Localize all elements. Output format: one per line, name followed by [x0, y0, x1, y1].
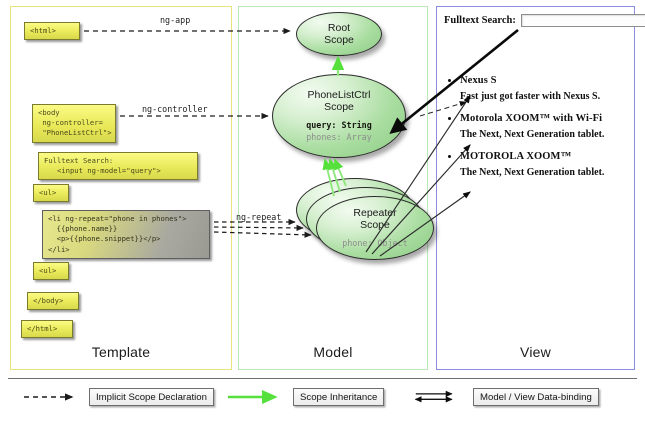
repeater-scope-title: RepeaterScope	[353, 207, 396, 231]
phone-name: Nexus S	[460, 75, 628, 86]
column-label-model: Model	[238, 344, 428, 360]
scope-property-query: query: String	[306, 120, 372, 131]
template-box-ul-open: <ul>	[33, 184, 69, 202]
template-box-li-ng-repeat: <li ng-repeat="phone in phones"> {{phone…	[42, 210, 210, 259]
list-item: Nexus S Fast just got faster with Nexus …	[444, 75, 628, 102]
phone-snippet: The Next, Next Generation tablet.	[460, 167, 628, 178]
template-box-body-close: </body>	[27, 292, 79, 310]
phone-name: MOTOROLA XOOM™	[460, 151, 628, 162]
list-item: Motorola XOOM™ with Wi-Fi The Next, Next…	[444, 113, 628, 140]
phone-snippet: The Next, Next Generation tablet.	[460, 129, 628, 140]
legend-label-model-view-data-binding: Model / View Data-binding	[473, 388, 599, 406]
legend-label-implicit-scope-declaration: Implicit Scope Declaration	[89, 388, 214, 406]
template-box-ul-close: <ul>	[33, 262, 69, 280]
legend: Implicit Scope Declaration Scope Inherit…	[8, 386, 637, 416]
root-scope-title: RootScope	[324, 22, 354, 46]
legend-item-implicit-scope-declaration: Implicit Scope Declaration	[22, 388, 214, 406]
view-phone-list: Nexus S Fast just got faster with Nexus …	[444, 75, 628, 178]
template-box-html-open: <html>	[24, 22, 80, 40]
phone-snippet: Fast just got faster with Nexus S.	[460, 91, 628, 102]
phonelistctrl-scope-properties: query: String phones: Array	[306, 120, 372, 143]
view-search-label: Fulltext Search:	[444, 15, 516, 26]
legend-item-model-view-data-binding: Model / View Data-binding	[406, 388, 599, 406]
phonelistctrl-scope-title: PhoneListCtrlScope	[307, 89, 370, 113]
repeater-scope-ellipse: RepeaterScope phone: Object	[316, 196, 434, 260]
view-rendered-page: Fulltext Search: Nexus S Fast just got f…	[444, 14, 628, 314]
column-label-view: View	[436, 344, 635, 360]
scope-property-phone: phone: Object	[342, 238, 408, 249]
phonelistctrl-scope-ellipse: PhoneListCtrlScope query: String phones:…	[272, 74, 406, 158]
phone-name: Motorola XOOM™ with Wi-Fi	[460, 113, 628, 124]
template-box-body-controller: <body ng-controller= "PhoneListCtrl">	[32, 104, 116, 143]
scope-property-phones: phones: Array	[306, 132, 372, 143]
view-search-row: Fulltext Search:	[444, 14, 628, 27]
repeater-scope-properties: phone: Object	[342, 238, 408, 249]
arrow-label-ng-app: ng-app	[160, 15, 190, 25]
arrow-label-ng-controller: ng-controller	[142, 104, 208, 114]
double-arrow-icon	[406, 390, 466, 404]
legend-label-scope-inheritance: Scope Inheritance	[293, 388, 384, 406]
template-box-fulltext-search: Fulltext Search: <input ng-model="query"…	[38, 152, 198, 180]
legend-divider	[8, 378, 637, 379]
list-item: MOTOROLA XOOM™ The Next, Next Generation…	[444, 151, 628, 178]
arrow-label-ng-repeat: ng-repeat	[236, 212, 281, 222]
fulltext-search-input[interactable]	[521, 14, 645, 27]
legend-item-scope-inheritance: Scope Inheritance	[226, 388, 384, 406]
root-scope-ellipse: RootScope	[296, 12, 382, 56]
green-arrow-icon	[226, 390, 286, 404]
template-box-html-close: </html>	[21, 320, 73, 338]
bullet-icon	[448, 155, 451, 158]
diagram-canvas: <html> <body ng-controller= "PhoneListCt…	[0, 0, 645, 425]
column-label-template: Template	[10, 344, 232, 360]
dashed-arrow-icon	[22, 390, 82, 404]
bullet-icon	[448, 117, 451, 120]
bullet-icon	[448, 79, 451, 82]
